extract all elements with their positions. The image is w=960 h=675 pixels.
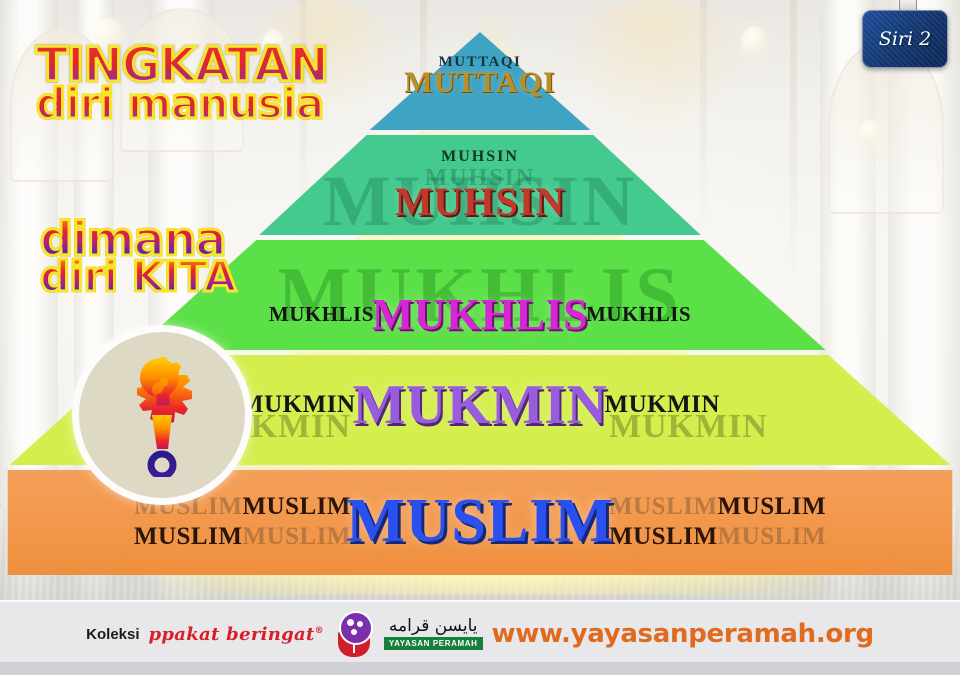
series-badge-label: Siri 2 [879, 28, 931, 50]
footer-bar: Koleksi ppakat beringat® يايسن قرامه YAY… [0, 600, 960, 675]
brand-name: ppakat beringat® [149, 624, 324, 645]
tier-label-muhsin-small: MUHSIN [0, 148, 960, 166]
logo-jawi-text: يايسن قرامه [389, 618, 478, 635]
infographic-poster: MUTTAQI MUTTAQI MUHSIN MUHSIN MUHSIN MUH… [0, 0, 960, 675]
logo-circle-shape [339, 611, 373, 645]
tier-label-mukmin-right: MUKMIN [604, 391, 719, 419]
footer-top-edge [0, 600, 960, 602]
koleksi-label: Koleksi [86, 626, 139, 643]
logo-dot [357, 621, 363, 627]
page-subtitle: dimana diri KITA [40, 218, 236, 297]
logo-band-text: YAYASAN PERAMAH [384, 637, 483, 650]
question-medallion [72, 325, 252, 505]
footer-bottom-strip [0, 662, 960, 675]
registered-mark-icon: ® [315, 626, 324, 636]
tier-label-mukhlis-left: MUKHLIS [269, 302, 374, 327]
title-line-1: TINGKATAN [36, 44, 328, 87]
logo-dot [351, 629, 357, 635]
logo-wordmark: يايسن قرامه YAYASAN PERAMAH [384, 618, 483, 650]
gear-question-mark-icon [108, 353, 216, 477]
yayasan-peramah-logo [333, 611, 375, 657]
tier-label-mukhlis: MUKHLIS [372, 289, 588, 340]
series-badge[interactable]: Siri 2 [862, 10, 948, 68]
tier-label-mukhlis-right: MUKHLIS [586, 302, 691, 327]
footer-content: Koleksi ppakat beringat® يايسن قرامه YAY… [0, 608, 960, 660]
tier-label-mukmin-left: MUKMIN [240, 391, 355, 419]
subtitle-line-2: diri KITA [40, 258, 236, 297]
website-url[interactable]: www.yayasanperamah.org [492, 619, 874, 649]
tier-label-mukmin: MUKMIN [353, 373, 608, 437]
page-title: TINGKATAN diri manusia [36, 44, 328, 124]
logo-dot [347, 619, 354, 626]
